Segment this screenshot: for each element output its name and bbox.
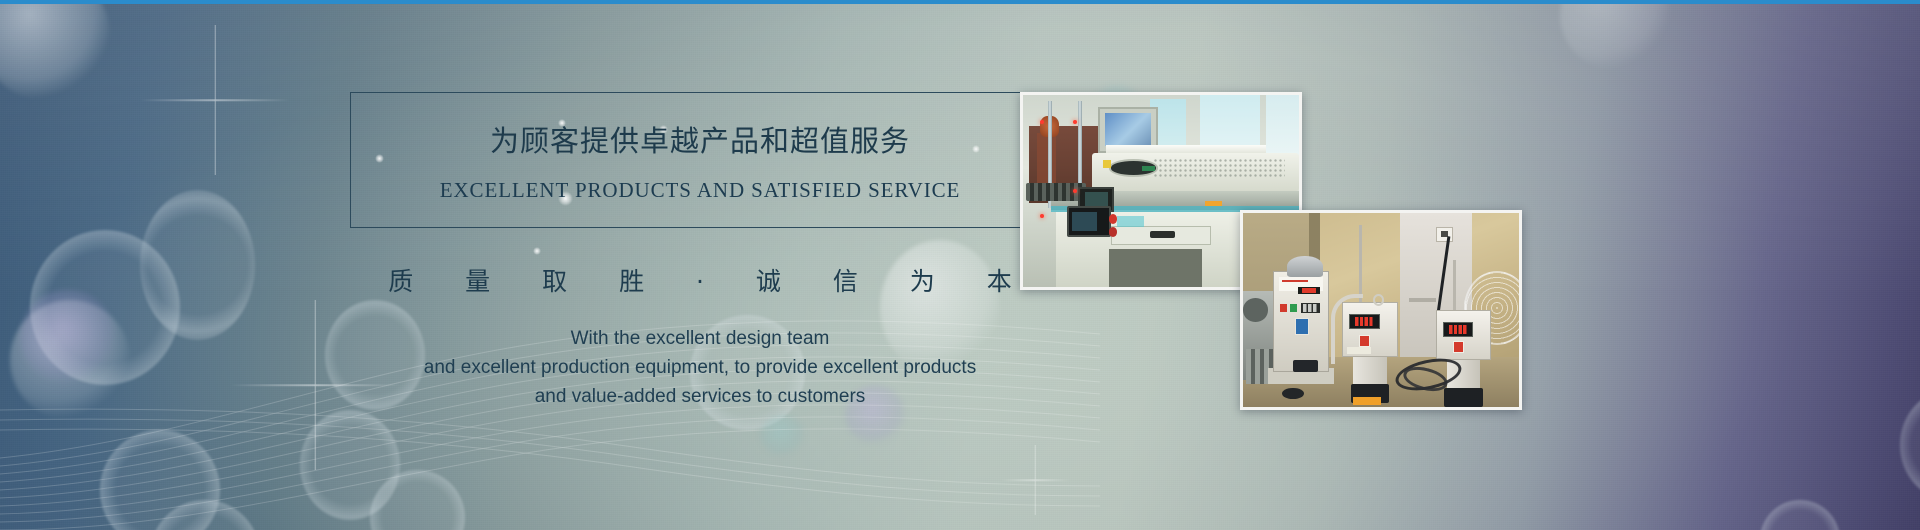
top-accent-stripe xyxy=(0,0,1920,4)
photo-press-machines-image xyxy=(1243,213,1519,407)
headline-chinese: 为顾客提供卓越产品和超值服务 xyxy=(377,123,1023,159)
headline-english: EXCELLENT PRODUCTS AND SATISFIED SERVICE xyxy=(377,177,1023,204)
headline-frame: 为顾客提供卓越产品和超值服务 EXCELLENT PRODUCTS AND SA… xyxy=(350,92,1050,228)
description-line: and value-added services to customers xyxy=(350,382,1050,411)
description-line: With the excellent design team xyxy=(350,324,1050,353)
description-line: and excellent production equipment, to p… xyxy=(350,353,1050,382)
photo-press-machines[interactable]: Terminal crimping press machines with re… xyxy=(1240,210,1522,410)
description-paragraph: With the excellent design team and excel… xyxy=(350,324,1050,411)
banner-text-column: 为顾客提供卓越产品和超值服务 EXCELLENT PRODUCTS AND SA… xyxy=(350,92,1050,411)
slogan-chinese: 质 量 取 胜 · 诚 信 为 本 xyxy=(350,262,1050,298)
promo-banner: 为顾客提供卓越产品和超值服务 EXCELLENT PRODUCTS AND SA… xyxy=(0,0,1920,530)
